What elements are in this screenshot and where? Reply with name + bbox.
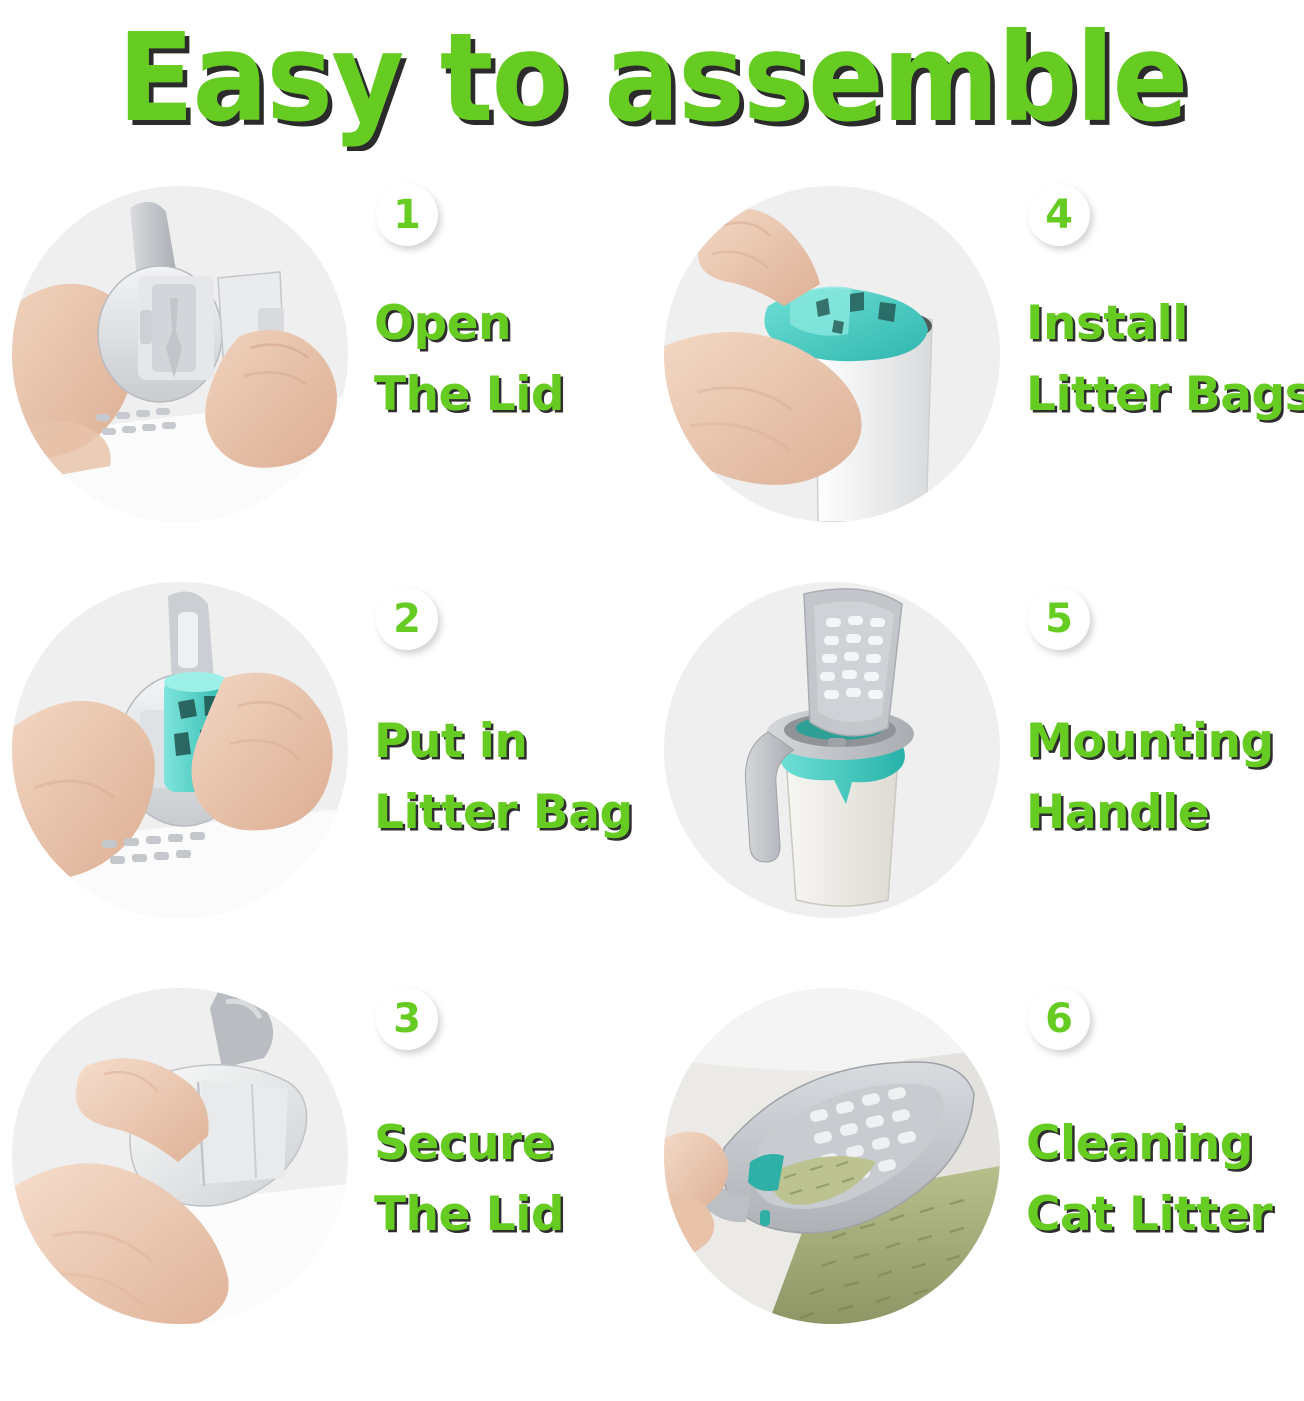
- step-label-line-2a: Put in: [374, 706, 652, 777]
- step-text-5: 5 Mounting Handle: [1000, 576, 1304, 849]
- step-text-2: 2 Put in Litter Bag: [348, 576, 652, 849]
- steps-row-1: 1 Open The Lid: [0, 172, 1304, 576]
- step-text-4: 4 Install Litter Bags: [1000, 172, 1304, 431]
- step-label-6: Cleaning Cat Litter: [1026, 1108, 1304, 1251]
- step-label-line-1a: Open: [374, 288, 652, 359]
- step-label-line-6b: Cat Litter: [1026, 1179, 1304, 1250]
- step-number-badge-1: 1: [376, 184, 438, 246]
- step-label-line-3a: Secure: [374, 1108, 652, 1179]
- step-label-2: Put in Litter Bag: [374, 706, 652, 849]
- step-text-3: 3 Secure The Lid: [348, 980, 652, 1251]
- step-card-2: 2 Put in Litter Bag: [0, 576, 652, 980]
- step-card-1: 1 Open The Lid: [0, 172, 652, 576]
- step-number-badge-6: 6: [1028, 988, 1090, 1050]
- step-photo-open-the-lid: [12, 186, 348, 522]
- step-card-3: 3 Secure The Lid: [0, 980, 652, 1384]
- step-label-line-5b: Handle: [1026, 777, 1304, 848]
- step-card-4: 4 Install Litter Bags: [652, 172, 1304, 576]
- step-number-badge-3: 3: [376, 988, 438, 1050]
- step-label-line-3b: The Lid: [374, 1179, 652, 1250]
- step-label-line-4b: Litter Bags: [1026, 359, 1304, 430]
- step-label-line-1b: The Lid: [374, 359, 652, 430]
- step-label-5: Mounting Handle: [1026, 706, 1304, 849]
- step-text-1: 1 Open The Lid: [348, 172, 652, 431]
- steps-row-2: 2 Put in Litter Bag: [0, 576, 1304, 980]
- step-card-6: 6 Cleaning Cat Litter: [652, 980, 1304, 1384]
- step-label-line-5a: Mounting: [1026, 706, 1304, 777]
- step-card-5: 5 Mounting Handle: [652, 576, 1304, 980]
- step-label-4: Install Litter Bags: [1026, 288, 1304, 431]
- steps-row-3: 3 Secure The Lid: [0, 980, 1304, 1384]
- step-photo-mounting-handle: [664, 582, 1000, 918]
- step-photo-install-litter-bags: [664, 186, 1000, 522]
- step-text-6: 6 Cleaning Cat Litter: [1000, 980, 1304, 1251]
- step-number-badge-5: 5: [1028, 588, 1090, 650]
- step-label-3: Secure The Lid: [374, 1108, 652, 1251]
- header: Easy to assemble: [0, 0, 1304, 150]
- step-label-line-4a: Install: [1026, 288, 1304, 359]
- page-title: Easy to assemble: [117, 17, 1186, 139]
- steps-grid: 1 Open The Lid: [0, 150, 1304, 1384]
- step-label-1: Open The Lid: [374, 288, 652, 431]
- step-photo-put-in-litter-bag: [12, 582, 348, 918]
- step-label-line-6a: Cleaning: [1026, 1108, 1304, 1179]
- step-label-line-2b: Litter Bag: [374, 777, 652, 848]
- step-photo-cleaning-cat-litter: [664, 988, 1000, 1324]
- step-photo-secure-the-lid: [12, 988, 348, 1324]
- step-number-badge-4: 4: [1028, 184, 1090, 246]
- step-number-badge-2: 2: [376, 588, 438, 650]
